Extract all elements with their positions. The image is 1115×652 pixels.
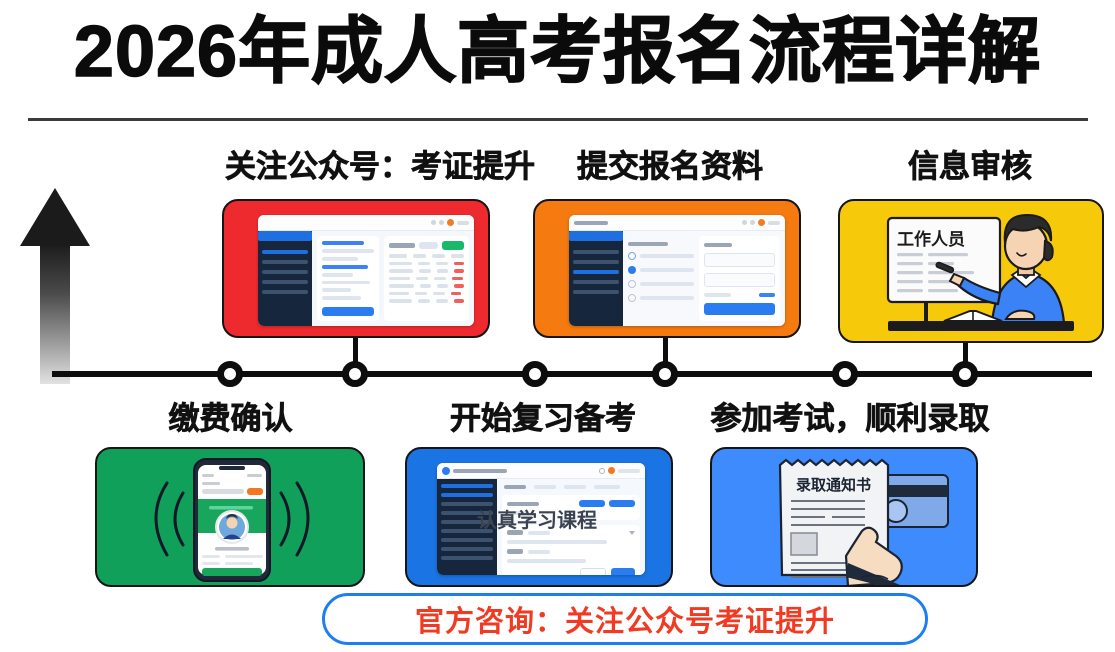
step-label-5: 开始复习备考 — [408, 400, 678, 438]
step-label-4: 缴费确认 — [58, 400, 403, 438]
mock-submit-button[interactable] — [704, 303, 775, 315]
step-card-4[interactable] — [95, 447, 365, 587]
step-card-5[interactable]: 认真学习课程 — [405, 447, 673, 587]
mock-sidebar — [258, 231, 312, 326]
timeline-stem-1 — [353, 338, 358, 363]
step-card-6[interactable]: 录取通知书 — [710, 447, 978, 587]
timeline-node-2[interactable] — [342, 361, 368, 387]
page-title: 2026年成人高考报名流程详解 — [0, 8, 1115, 96]
mock-nav-item[interactable] — [573, 260, 619, 264]
mock-table-pane — [384, 236, 469, 321]
mock-content — [623, 231, 785, 326]
mock-nav-item[interactable] — [441, 556, 493, 560]
mock-brand-logo — [569, 231, 623, 241]
growth-arrow-icon — [18, 188, 90, 384]
admission-letter-illustration: 录取通知书 — [712, 449, 978, 587]
mock-nav-item[interactable] — [441, 547, 493, 551]
mock-action-button[interactable] — [442, 241, 464, 250]
mock-content — [312, 231, 474, 326]
timeline-stem-3 — [963, 343, 968, 363]
mock-nav-item[interactable] — [573, 270, 619, 274]
mock-titlebar — [569, 215, 785, 231]
step-label-3: 信息审核 — [835, 148, 1105, 186]
timeline-axis — [52, 371, 1092, 377]
phone-payment-illustration — [97, 449, 365, 587]
board-caption: 工作人员 — [897, 229, 965, 250]
timeline-node-6[interactable] — [952, 361, 978, 387]
mock-checklist — [628, 236, 694, 321]
mock-nav-item[interactable] — [573, 250, 619, 254]
cta-text: 官方咨询：关注公众号考证提升 — [415, 598, 835, 640]
arrow-shaft — [40, 244, 70, 384]
step-label-2: 提交报名资料 — [500, 148, 840, 186]
mock-nav-item[interactable] — [262, 250, 308, 254]
letter-title: 录取通知书 — [796, 476, 871, 494]
mock-filter-pane — [317, 236, 379, 321]
timeline-node-4[interactable] — [652, 361, 678, 387]
timeline-stem-2 — [663, 338, 668, 363]
mock-nav-item[interactable] — [441, 493, 493, 497]
mock-input-field[interactable] — [704, 253, 775, 267]
title-divider — [28, 118, 1088, 121]
dashboard-mock-form — [569, 215, 785, 326]
staff-review-illustration: 工作人员 — [840, 201, 1104, 343]
card-caption-5: 认真学习课程 — [477, 504, 597, 533]
mock-primary-button[interactable] — [322, 307, 374, 316]
mock-nav-item[interactable] — [573, 280, 619, 284]
step-card-2[interactable] — [533, 199, 801, 338]
mock-nav-item[interactable] — [262, 290, 308, 294]
mock-brand-logo — [258, 231, 312, 241]
mock-nav-item[interactable] — [262, 260, 308, 264]
mock-body — [569, 231, 785, 326]
dashboard-mock-articles — [258, 215, 474, 326]
step-card-3[interactable]: 工作人员 — [838, 199, 1104, 343]
step-label-6: 参加考试，顺利录取 — [690, 400, 1010, 438]
pay-button — [202, 568, 262, 576]
mock-cancel-button[interactable] — [580, 568, 606, 575]
timeline-node-5[interactable] — [832, 361, 858, 387]
timeline-node-3[interactable] — [522, 361, 548, 387]
mock-titlebar — [437, 463, 645, 479]
mock-nav-item[interactable] — [441, 538, 493, 542]
mock-body — [258, 231, 474, 326]
mock-nav-item[interactable] — [573, 290, 619, 294]
mock-form-pane — [699, 236, 780, 321]
cta-banner[interactable]: 官方咨询：关注公众号考证提升 — [322, 593, 928, 645]
arrow-head — [20, 188, 90, 246]
mock-nav-item[interactable] — [262, 270, 308, 274]
mock-nav-item[interactable] — [441, 484, 493, 488]
mock-confirm-button[interactable] — [611, 568, 635, 575]
mock-titlebar — [258, 215, 474, 231]
mock-sidebar — [569, 231, 623, 326]
timeline-node-1[interactable] — [217, 361, 243, 387]
infographic-canvas: 2026年成人高考报名流程详解 关注公众号：考证提升 — [0, 0, 1115, 652]
mock-input-field[interactable] — [704, 273, 775, 287]
mock-nav-item[interactable] — [262, 280, 308, 284]
step-card-1[interactable] — [222, 199, 490, 338]
